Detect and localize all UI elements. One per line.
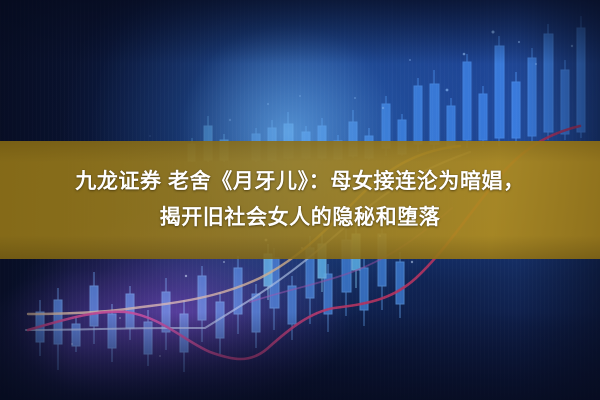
headline-line-2: 揭开旧社会女人的隐秘和堕落 xyxy=(160,200,441,236)
headline-banner: 九龙证券 老舍《月牙儿》：母女接连沦为暗娼， 揭开旧社会女人的隐秘和堕落 xyxy=(0,141,600,259)
banner-image: 九龙证券 老舍《月牙儿》：母女接连沦为暗娼， 揭开旧社会女人的隐秘和堕落 xyxy=(0,0,600,400)
headline-line-1: 九龙证券 老舍《月牙儿》：母女接连沦为暗娼， xyxy=(75,164,525,200)
